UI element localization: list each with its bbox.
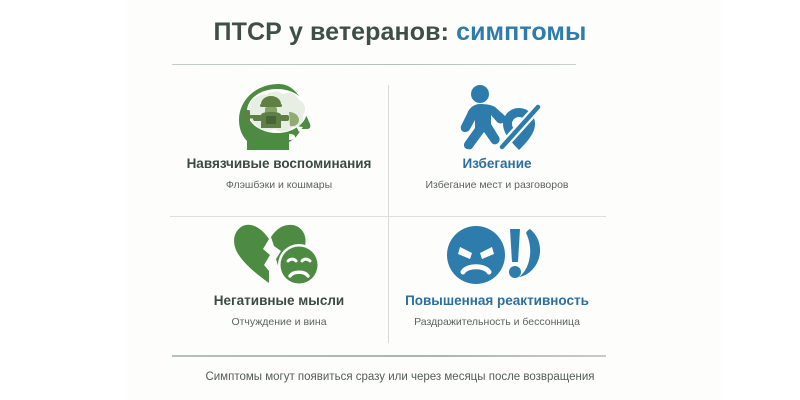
title-accent-text: симптомы <box>456 18 586 46</box>
quadrant-negative-thoughts[interactable]: Негативные мысли Отчуждение и вина <box>170 217 388 351</box>
quadrant-label: Избегание <box>462 157 531 171</box>
quadrant-label: Повышенная реактивность <box>405 294 589 308</box>
quadrant-subtitle: Избегание мест и разговоров <box>425 180 568 191</box>
broken-heart-sad-face-icon <box>229 217 329 291</box>
quadrant-subtitle: Отчуждение и вина <box>231 317 326 328</box>
quadrant-avoidance[interactable]: Избегание Избегание мест и разговоров <box>388 80 606 214</box>
quadrant-subtitle: Флэшбэки и кошмары <box>226 180 332 191</box>
quadrant-label: Негативные мысли <box>214 294 344 308</box>
footer-divider <box>172 355 606 357</box>
quadrant-subtitle: Раздражительность и бессонница <box>414 317 580 328</box>
head-soldier-icon <box>233 80 325 154</box>
angry-face-exclamation-moon-icon <box>444 217 550 291</box>
walking-person-no-location-icon <box>451 80 543 154</box>
footer-note: Симптомы могут появиться сразу или через… <box>0 371 800 383</box>
quadrant-label: Навязчивые воспоминания <box>187 157 372 171</box>
quadrant-intrusive-memories[interactable]: Навязчивые воспоминания Флэшбэки и кошма… <box>170 80 388 214</box>
title-divider <box>172 64 576 65</box>
page-title: ПТСР у ветеранов: симптомы <box>0 18 800 47</box>
symptom-grid: Навязчивые воспоминания Флэшбэки и кошма… <box>170 80 606 348</box>
ptsd-symptoms-infographic: ПТСР у ветеранов: симптомы <box>0 0 800 400</box>
quadrant-hyperarousal[interactable]: Повышенная реактивность Раздражительност… <box>388 217 606 351</box>
title-main-text: ПТСР у ветеранов: <box>214 18 449 46</box>
